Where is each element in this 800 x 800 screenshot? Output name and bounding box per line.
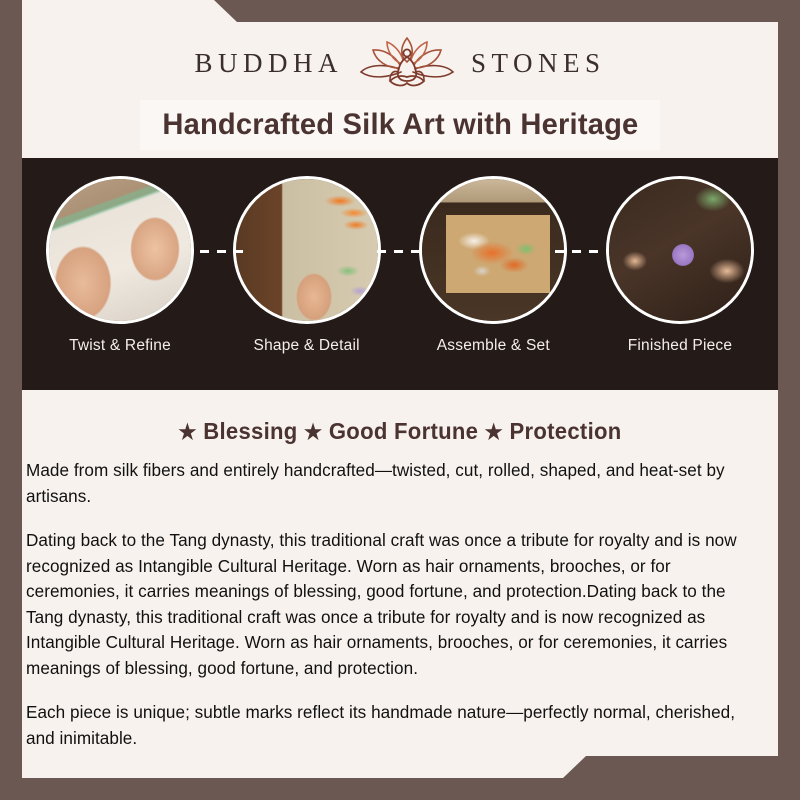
body-paragraph: Made from silk fibers and entirely handc… — [26, 458, 759, 509]
star-icon: ★ — [304, 421, 322, 444]
process-step-label: Twist & Refine — [69, 337, 171, 355]
dashed-line-icon — [200, 250, 246, 253]
process-step-label: Assemble & Set — [437, 337, 550, 355]
step-image-assemble-set — [419, 176, 567, 324]
promo-graphic: BUDDHA — [0, 0, 800, 800]
star-icon: ★ — [485, 421, 503, 444]
process-step-label: Shape & Detail — [254, 337, 360, 355]
process-step-4: Finished Piece — [604, 176, 756, 355]
brand-word-left: BUDDHA — [194, 48, 343, 79]
body-paragraph: Dating back to the Tang dynasty, this tr… — [26, 528, 759, 681]
process-step-label: Finished Piece — [628, 337, 732, 355]
blessing-item-2: Good Fortune — [329, 418, 478, 444]
body-copy: Made from silk fibers and entirely handc… — [22, 458, 778, 770]
lotus-meditation-icon — [349, 34, 465, 92]
body-paragraph: Each piece is unique; subtle marks refle… — [26, 700, 759, 751]
star-icon: ★ — [178, 421, 196, 444]
process-strip: Twist & Refine Shape & Detail — [22, 158, 778, 390]
blessing-item-3: Protection — [509, 418, 621, 444]
process-steps: Twist & Refine Shape & Detail — [22, 158, 778, 390]
process-step-1: Twist & Refine — [44, 176, 196, 355]
brand-word-right: STONES — [471, 48, 606, 79]
title-banner: Handcrafted Silk Art with Heritage — [140, 100, 660, 150]
brand-header: BUDDHA — [22, 30, 778, 96]
blessing-item-1: Blessing — [203, 418, 297, 444]
content-sheet: BUDDHA — [22, 0, 778, 778]
process-step-3: Assemble & Set — [417, 176, 569, 355]
dashed-line-icon — [555, 250, 601, 253]
step-image-shape-detail — [233, 176, 381, 324]
dashed-line-icon — [377, 250, 423, 253]
blessing-row: ★ Blessing ★ Good Fortune ★ Protection — [37, 418, 763, 445]
process-step-2: Shape & Detail — [231, 176, 383, 355]
step-image-twist-refine — [46, 176, 194, 324]
page-title: Handcrafted Silk Art with Heritage — [162, 108, 638, 142]
step-image-finished-piece — [606, 176, 754, 324]
